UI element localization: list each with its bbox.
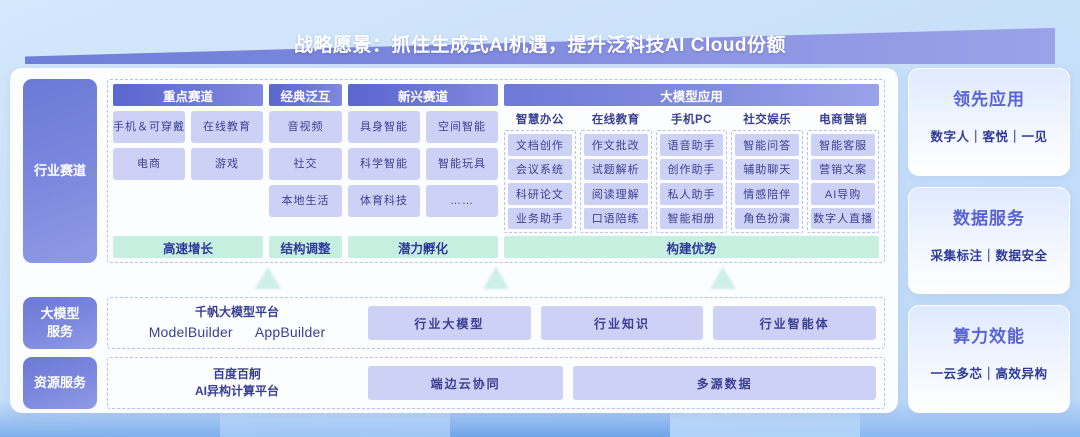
app-item[interactable]: 作文批改: [584, 134, 648, 156]
track-cell[interactable]: 体育科技: [348, 185, 420, 217]
service-industry-knowledge[interactable]: 行业知识: [541, 306, 704, 340]
large-model-applications-title: 大模型应用: [504, 84, 879, 106]
track-group-classic-title: 经典泛互: [269, 84, 342, 106]
large-model-applications: 大模型应用 智慧办公 文档创作 会议系统 科研论文 业务助手 在线教育: [504, 84, 879, 258]
app-item[interactable]: 科研论文: [508, 183, 572, 205]
panel-subtitle: 采集标注｜数据安全: [930, 245, 1047, 264]
panel-subtitle: 一云多芯｜高效异构: [930, 363, 1047, 382]
model-service-region: 大模型 服务 千帆大模型平台 ModelBuilderAppBuilder 行业…: [23, 297, 885, 349]
app-item[interactable]: 智能客服: [811, 134, 875, 156]
model-service-content: 千帆大模型平台 ModelBuilderAppBuilder 行业大模型 行业知…: [107, 297, 885, 349]
track-column: 在线教育 游戏: [191, 111, 263, 231]
app-item[interactable]: 口语陪练: [584, 208, 648, 230]
row-label-model-service: 大模型 服务: [23, 297, 97, 349]
track-column: 空间智能 智能玩具 ……: [426, 111, 498, 231]
app-category-online-education: 在线教育 作文批改 试题解析 阅读理解 口语陪练: [580, 108, 652, 233]
app-category-title: 电商营销: [807, 108, 879, 130]
panel-subtitle: 数字人｜客悦｜一见: [930, 126, 1047, 145]
resource-service-content: 百度百舸 AI异构计算平台 端边云协同 多源数据: [107, 357, 885, 409]
row-label-model-service-l2: 服务: [47, 324, 73, 339]
app-item[interactable]: 语音助手: [660, 134, 724, 156]
track-cell[interactable]: 科学智能: [348, 148, 420, 180]
track-column: 手机＆可穿戴 电商: [113, 111, 185, 231]
track-cell[interactable]: 音视频: [269, 111, 342, 143]
app-item[interactable]: 情感陪伴: [735, 183, 799, 205]
track-cell[interactable]: 手机＆可穿戴: [113, 111, 185, 143]
track-group-emerging: 新兴赛道 具身智能 科学智能 体育科技 空间智能 智能玩具 …… 潜力孵化: [348, 84, 498, 258]
page-title: 战略愿景：抓住生成式AI机遇，提升泛科技AI Cloud份额: [0, 22, 1080, 64]
baige-platform-subtitle: AI异构计算平台: [116, 383, 358, 400]
track-cell[interactable]: 游戏: [191, 148, 263, 180]
app-category-smart-office: 智慧办公 文档创作 会议系统 科研论文 业务助手: [504, 108, 576, 233]
row-label-industry-track: 行业赛道: [23, 79, 97, 263]
service-industry-agent[interactable]: 行业智能体: [713, 306, 876, 340]
app-item[interactable]: 文档创作: [508, 134, 572, 156]
flow-arrows: [23, 263, 885, 297]
track-group-emerging-title: 新兴赛道: [348, 84, 498, 106]
app-item[interactable]: 数字人直播: [811, 208, 875, 230]
track-cell[interactable]: 本地生活: [269, 185, 342, 217]
track-column: 音视频 社交 本地生活: [269, 111, 342, 231]
app-category-title: 智慧办公: [504, 108, 576, 130]
track-cell[interactable]: 电商: [113, 148, 185, 180]
panel-title: 算力效能: [953, 322, 1025, 347]
industry-track-region: 行业赛道 重点赛道 手机＆可穿戴 电商 在线教育 游戏: [23, 79, 885, 263]
app-category-phone-pc: 手机PC 语音助手 创作助手 私人助手 智能相册: [656, 108, 728, 233]
up-arrow-icon: [476, 267, 516, 293]
panel-title: 领先应用: [953, 85, 1025, 110]
app-item[interactable]: 智能相册: [660, 208, 724, 230]
app-category-title: 手机PC: [656, 108, 728, 130]
row-label-resource-service: 资源服务: [23, 357, 97, 409]
app-category-title: 在线教育: [580, 108, 652, 130]
app-item[interactable]: 阅读理解: [584, 183, 648, 205]
track-group-classic-footer: 结构调整: [269, 236, 342, 258]
app-item[interactable]: 私人助手: [660, 183, 724, 205]
appbuilder-label[interactable]: AppBuilder: [255, 322, 326, 342]
up-arrow-icon: [703, 267, 743, 293]
app-item[interactable]: 营销文案: [811, 159, 875, 181]
panel-leading-applications[interactable]: 领先应用 数字人｜客悦｜一见: [908, 68, 1070, 176]
baige-platform: 百度百舸 AI异构计算平台: [116, 366, 358, 401]
track-group-classic: 经典泛互 音视频 社交 本地生活 结构调整: [269, 84, 342, 258]
qianfan-platform: 千帆大模型平台 ModelBuilderAppBuilder: [116, 304, 358, 342]
track-group-key: 重点赛道 手机＆可穿戴 电商 在线教育 游戏 高速增长: [113, 84, 263, 258]
app-item[interactable]: AI导购: [811, 183, 875, 205]
service-industry-large-model[interactable]: 行业大模型: [368, 306, 531, 340]
track-group-key-footer: 高速增长: [113, 236, 263, 258]
app-category-ecommerce-marketing: 电商营销 智能客服 营销文案 AI导购 数字人直播: [807, 108, 879, 233]
app-item[interactable]: 创作助手: [660, 159, 724, 181]
resource-service-region: 资源服务 百度百舸 AI异构计算平台 端边云协同 多源数据: [23, 357, 885, 409]
track-group-emerging-footer: 潜力孵化: [348, 236, 498, 258]
track-groups-container: 重点赛道 手机＆可穿戴 电商 在线教育 游戏 高速增长: [107, 79, 885, 263]
qianfan-platform-title: 千帆大模型平台: [116, 304, 358, 321]
service-multi-source-data[interactable]: 多源数据: [573, 366, 876, 400]
app-item[interactable]: 角色扮演: [735, 208, 799, 230]
panel-title: 数据服务: [953, 204, 1025, 229]
service-edge-cloud-collaboration[interactable]: 端边云协同: [368, 366, 563, 400]
track-cell[interactable]: 智能玩具: [426, 148, 498, 180]
right-panels: 领先应用 数字人｜客悦｜一见 数据服务 采集标注｜数据安全 算力效能 一云多芯｜…: [908, 68, 1070, 413]
app-item[interactable]: 试题解析: [584, 159, 648, 181]
row-label-model-service-l1: 大模型: [40, 306, 79, 321]
app-item[interactable]: 辅助聊天: [735, 159, 799, 181]
app-item[interactable]: 智能问答: [735, 134, 799, 156]
track-cell-empty: [191, 185, 263, 217]
track-group-key-title: 重点赛道: [113, 84, 263, 106]
app-item[interactable]: 会议系统: [508, 159, 572, 181]
track-cell[interactable]: 社交: [269, 148, 342, 180]
track-cell[interactable]: 在线教育: [191, 111, 263, 143]
panel-compute-efficiency[interactable]: 算力效能 一云多芯｜高效异构: [908, 305, 1070, 413]
track-column: 具身智能 科学智能 体育科技: [348, 111, 420, 231]
app-category-title: 社交娱乐: [731, 108, 803, 130]
large-model-applications-footer: 构建优势: [504, 236, 879, 258]
track-cell[interactable]: 空间智能: [426, 111, 498, 143]
app-item[interactable]: 业务助手: [508, 208, 572, 230]
baige-platform-title: 百度百舸: [116, 366, 358, 383]
track-cell-empty: [113, 185, 185, 217]
main-card: 行业赛道 重点赛道 手机＆可穿戴 电商 在线教育 游戏: [10, 68, 898, 413]
track-cell[interactable]: ……: [426, 185, 498, 217]
track-cell[interactable]: 具身智能: [348, 111, 420, 143]
panel-data-service[interactable]: 数据服务 采集标注｜数据安全: [908, 187, 1070, 295]
app-category-social-entertainment: 社交娱乐 智能问答 辅助聊天 情感陪伴 角色扮演: [731, 108, 803, 233]
modelbuilder-label[interactable]: ModelBuilder: [149, 322, 233, 342]
up-arrow-icon: [248, 267, 288, 293]
